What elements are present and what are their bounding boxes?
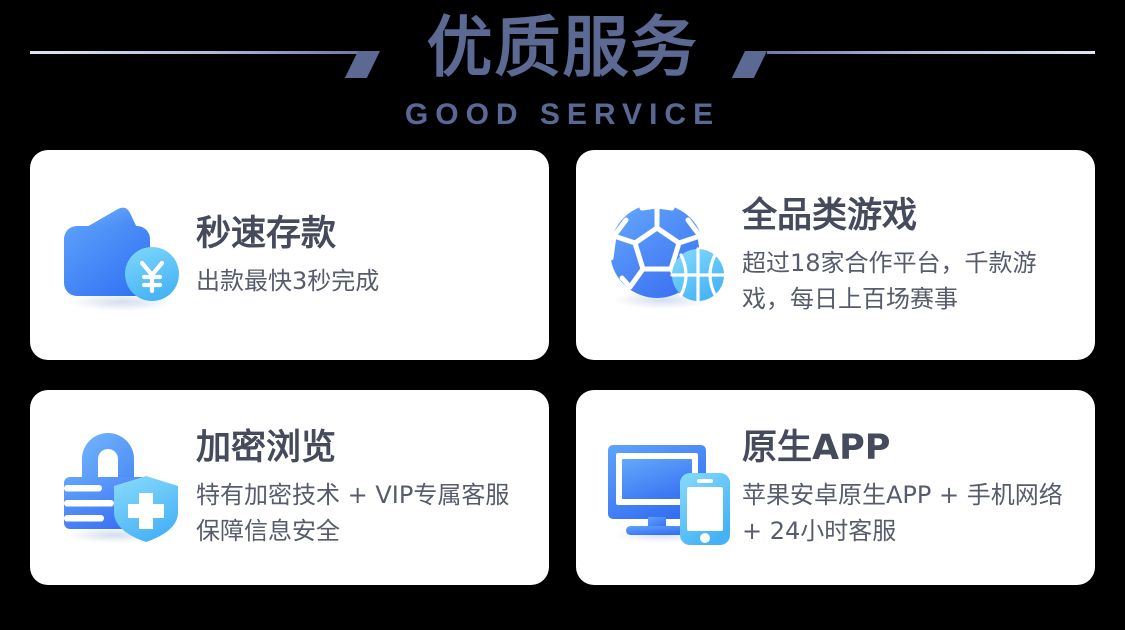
soccer-basketball-icon <box>602 196 738 314</box>
service-card-deposit[interactable]: 秒速存款 出款最快3秒完成 <box>30 150 549 360</box>
service-card-grid: 秒速存款 出款最快3秒完成 <box>30 150 1095 585</box>
card-text-deposit: 秒速存款 出款最快3秒完成 <box>192 212 549 299</box>
service-card-games[interactable]: 全品类游戏 超过18家合作平台，千款游戏，每日上百场赛事 <box>576 150 1095 360</box>
card-title: 加密浏览 <box>196 426 535 470</box>
page-subtitle: GOOD SERVICE <box>0 96 1125 134</box>
card-text-games: 全品类游戏 超过18家合作平台，千款游戏，每日上百场赛事 <box>738 194 1095 317</box>
card-subtitle: 出款最快3秒完成 <box>196 263 535 299</box>
card-subtitle: 特有加密技术 + VIP专属客服保障信息安全 <box>196 477 526 549</box>
lock-shield-icon <box>56 429 192 547</box>
card-title: 原生APP <box>742 426 1081 470</box>
card-subtitle: 超过18家合作平台，千款游戏，每日上百场赛事 <box>742 245 1072 317</box>
card-title: 全品类游戏 <box>742 194 1081 238</box>
service-card-native-app[interactable]: 原生APP 苹果安卓原生APP + 手机网络 + 24小时客服 <box>576 390 1095 585</box>
page-header: 优质服务 GOOD SERVICE <box>0 0 1125 145</box>
monitor-phone-icon <box>602 429 738 547</box>
page-title: 优质服务 <box>0 6 1125 90</box>
card-title: 秒速存款 <box>196 212 535 256</box>
card-text-native-app: 原生APP 苹果安卓原生APP + 手机网络 + 24小时客服 <box>738 426 1095 549</box>
wallet-yen-icon <box>56 196 192 314</box>
card-subtitle: 苹果安卓原生APP + 手机网络 + 24小时客服 <box>742 477 1072 549</box>
service-card-encryption[interactable]: 加密浏览 特有加密技术 + VIP专属客服保障信息安全 <box>30 390 549 585</box>
card-text-encryption: 加密浏览 特有加密技术 + VIP专属客服保障信息安全 <box>192 426 549 549</box>
